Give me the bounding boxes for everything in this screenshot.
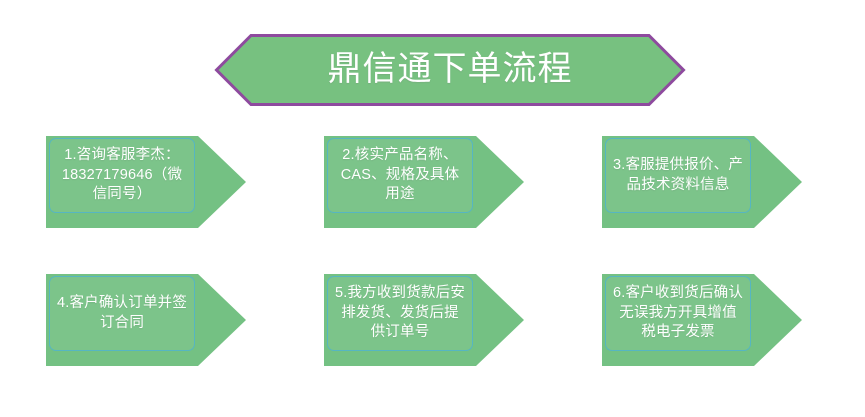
step-5-label: 5.我方收到货款后安排发货、发货后提供订单号 — [334, 284, 466, 342]
step-4-box: 4.客户确认订单并签订合同 — [49, 276, 195, 351]
step-3-label: 3.客服提供报价、产品技术资料信息 — [612, 156, 744, 195]
step-5-box: 5.我方收到货款后安排发货、发货后提供订单号 — [327, 276, 473, 351]
step-3-box: 3.客服提供报价、产品技术资料信息 — [605, 138, 751, 213]
flowchart-title-banner: 鼎信通下单流程 — [215, 34, 685, 106]
step-6-box: 6.客户收到货后确认无误我方开具增值税电子发票 — [605, 276, 751, 351]
step-4-label: 4.客户确认订单并签订合同 — [56, 294, 188, 333]
flow-step-2[interactable]: 2.核实产品名称、CAS、规格及具体用途 — [324, 136, 524, 228]
flow-step-3[interactable]: 3.客服提供报价、产品技术资料信息 — [602, 136, 802, 228]
flow-step-4[interactable]: 4.客户确认订单并签订合同 — [46, 274, 246, 366]
flowchart-canvas: 鼎信通下单流程 1.咨询客服李杰：18327179646（微信同号） 2.核实产… — [0, 0, 865, 417]
flow-step-1[interactable]: 1.咨询客服李杰：18327179646（微信同号） — [46, 136, 246, 228]
step-1-box: 1.咨询客服李杰：18327179646（微信同号） — [49, 138, 195, 213]
flow-step-5[interactable]: 5.我方收到货款后安排发货、发货后提供订单号 — [324, 274, 524, 366]
step-6-label: 6.客户收到货后确认无误我方开具增值税电子发票 — [612, 284, 744, 342]
step-1-label: 1.咨询客服李杰：18327179646（微信同号） — [56, 146, 188, 204]
step-2-box: 2.核实产品名称、CAS、规格及具体用途 — [327, 138, 473, 213]
step-2-label: 2.核实产品名称、CAS、规格及具体用途 — [334, 146, 466, 204]
page-title: 鼎信通下单流程 — [215, 34, 685, 106]
flow-step-6[interactable]: 6.客户收到货后确认无误我方开具增值税电子发票 — [602, 274, 802, 366]
